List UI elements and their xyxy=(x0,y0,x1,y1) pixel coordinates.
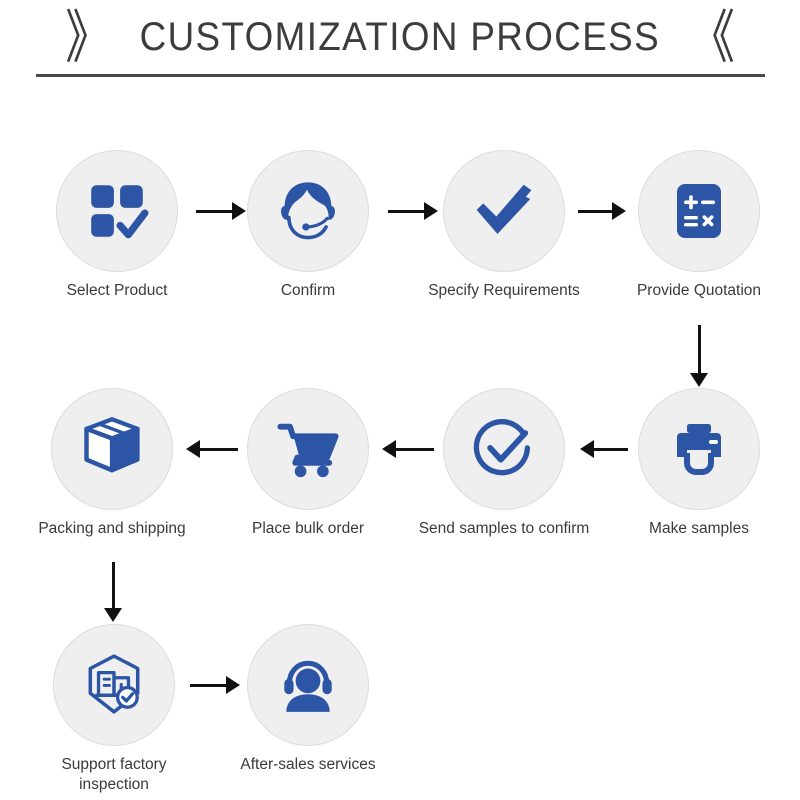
arrow-shaft xyxy=(578,210,612,213)
arrow-head xyxy=(382,440,396,458)
step-provide-quotation[interactable]: Provide Quotation xyxy=(623,150,775,301)
step-after-sales-services[interactable]: After-sales services xyxy=(232,624,384,775)
step-icon-circle xyxy=(247,388,369,510)
arrow-head xyxy=(104,608,122,622)
step-label: Make samples xyxy=(649,519,749,539)
step-label: Provide Quotation xyxy=(637,281,761,301)
title-bracket-left-icon: 》 xyxy=(65,8,111,66)
arrow-step6-to-step7 xyxy=(382,440,434,458)
factory-shield-check-icon xyxy=(81,652,147,718)
page-title: 》 CUSTOMIZATION PROCESS 《 xyxy=(0,8,800,66)
circle-check-icon xyxy=(470,415,538,483)
arrow-step8-to-step9 xyxy=(104,562,122,622)
step-label: Select Product xyxy=(67,281,168,301)
step-label: Place bulk order xyxy=(252,519,364,539)
step-packing-and-shipping[interactable]: Packing and shipping xyxy=(36,388,188,539)
step-label: Specify Requirements xyxy=(428,281,580,301)
step-icon-circle xyxy=(53,624,175,746)
process-row-3: Support factory inspection xyxy=(0,624,800,799)
step-label: Packing and shipping xyxy=(38,519,185,539)
process-flow: Select Product Co xyxy=(0,150,800,799)
calculator-icon xyxy=(667,179,731,243)
headset-agent-icon xyxy=(274,177,342,245)
arrow-head xyxy=(690,373,708,387)
arrow-step7-to-step8 xyxy=(186,440,238,458)
checkmark-icon xyxy=(469,176,539,246)
step-make-samples[interactable]: Make samples xyxy=(623,388,775,539)
step-icon-circle xyxy=(638,150,760,272)
shopping-cart-icon xyxy=(274,415,342,483)
page-header: 》 CUSTOMIZATION PROCESS 《 xyxy=(0,0,800,86)
arrow-shaft xyxy=(388,210,424,213)
arrow-step4-to-step5 xyxy=(690,325,708,387)
step-icon-circle xyxy=(56,150,178,272)
arrow-head xyxy=(580,440,594,458)
package-box-icon xyxy=(78,415,146,483)
page-title-text: CUSTOMIZATION PROCESS xyxy=(140,15,660,60)
step-icon-circle xyxy=(638,388,760,510)
step-icon-circle xyxy=(443,388,565,510)
arrow-head xyxy=(186,440,200,458)
arrow-shaft xyxy=(698,325,701,373)
arrow-shaft xyxy=(190,684,226,687)
step-icon-circle xyxy=(247,150,369,272)
step-place-bulk-order[interactable]: Place bulk order xyxy=(232,388,384,539)
printer-icon xyxy=(667,417,731,481)
step-icon-circle xyxy=(443,150,565,272)
process-row-1: Select Product Co xyxy=(0,150,800,325)
step-confirm[interactable]: Confirm xyxy=(232,150,384,301)
step-label: After-sales services xyxy=(240,755,375,775)
arrow-shaft xyxy=(196,210,232,213)
step-label: Support factory inspection xyxy=(39,755,189,795)
step-send-samples-to-confirm[interactable]: Send samples to confirm xyxy=(428,388,580,539)
grid-check-icon xyxy=(84,178,150,244)
header-divider xyxy=(36,74,765,77)
arrow-shaft xyxy=(112,562,115,608)
arrow-step3-to-step4 xyxy=(578,202,626,220)
step-specify-requirements[interactable]: Specify Requirements xyxy=(428,150,580,301)
headphones-person-icon xyxy=(275,652,341,718)
step-label: Confirm xyxy=(281,281,335,301)
step-label: Send samples to confirm xyxy=(419,519,590,539)
title-bracket-right-icon: 《 xyxy=(689,8,735,66)
step-icon-circle xyxy=(247,624,369,746)
arrow-step5-to-step6 xyxy=(580,440,628,458)
process-row-2: Packing and shipping Place bulk order xyxy=(0,388,800,563)
step-icon-circle xyxy=(51,388,173,510)
step-support-factory-inspection[interactable]: Support factory inspection xyxy=(38,624,190,795)
step-select-product[interactable]: Select Product xyxy=(41,150,193,301)
